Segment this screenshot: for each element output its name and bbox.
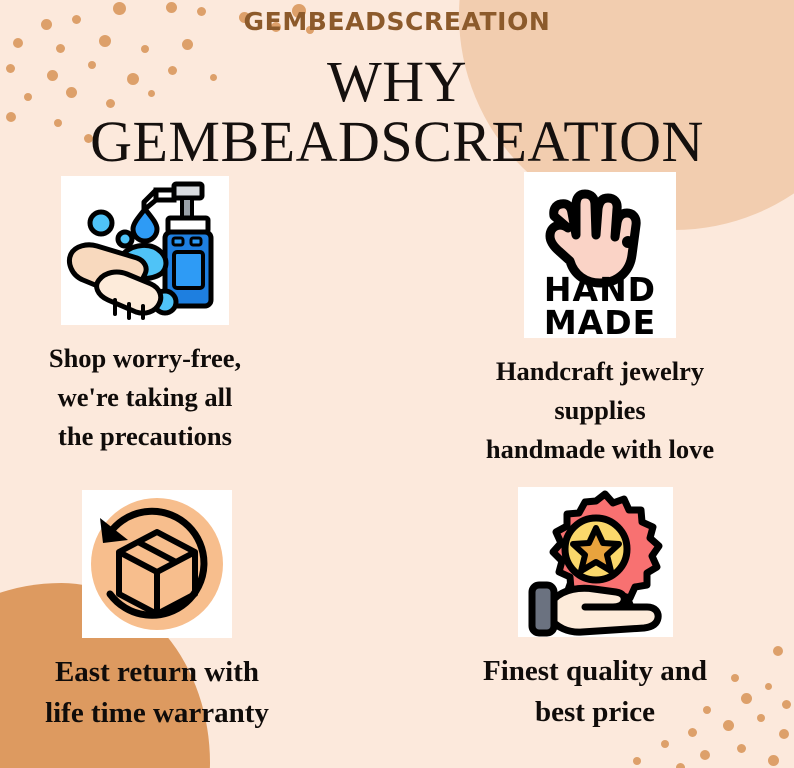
feature-caption: Finest quality and best price xyxy=(450,651,740,733)
decorative-dot xyxy=(99,35,111,47)
decorative-dot xyxy=(182,39,193,50)
decorative-dot xyxy=(737,744,746,753)
handwashing-icon-glyph xyxy=(61,176,229,325)
handmade-stamp-icon-glyph: HAND MADE xyxy=(524,172,676,338)
handmade-stamp-icon: HAND MADE xyxy=(524,172,676,338)
feature-worry-free: Shop worry-free, we're taking all the pr… xyxy=(0,176,290,456)
feature-caption: East return with life time warranty xyxy=(12,652,302,734)
decorative-dot xyxy=(782,700,791,709)
decorative-dot xyxy=(779,729,789,739)
decorative-dot xyxy=(741,693,752,704)
return-box-icon-glyph xyxy=(82,490,232,638)
decorative-dot xyxy=(700,750,710,760)
brand-name: GEMBEADSCREATION xyxy=(0,7,794,36)
decorative-dot xyxy=(765,683,772,690)
decorative-dot xyxy=(773,646,783,656)
decorative-dot xyxy=(13,38,23,48)
handwashing-icon xyxy=(61,176,229,325)
feature-caption: Shop worry-free, we're taking all the pr… xyxy=(0,339,290,456)
feature-finest-quality: Finest quality and best price xyxy=(450,487,740,733)
poster-canvas: GEMBEADSCREATION WHY GEMBEADSCREATION xyxy=(0,0,794,768)
quality-award-icon-glyph xyxy=(518,487,673,637)
feature-easy-return: East return with life time warranty xyxy=(12,490,302,734)
decorative-dot xyxy=(676,763,685,768)
decorative-dot xyxy=(768,755,779,766)
feature-caption: Handcraft jewelry supplies handmade with… xyxy=(455,352,745,469)
feature-handmade: HAND MADE Handcraft jewelry supplies han… xyxy=(455,172,745,469)
return-box-icon xyxy=(82,490,232,638)
quality-award-icon xyxy=(518,487,673,637)
decorative-dot xyxy=(633,757,641,765)
decorative-dot xyxy=(661,740,669,748)
stamp-line-2: MADE xyxy=(544,303,656,338)
page-title: WHY GEMBEADSCREATION xyxy=(0,52,794,172)
decorative-dot xyxy=(757,714,765,722)
